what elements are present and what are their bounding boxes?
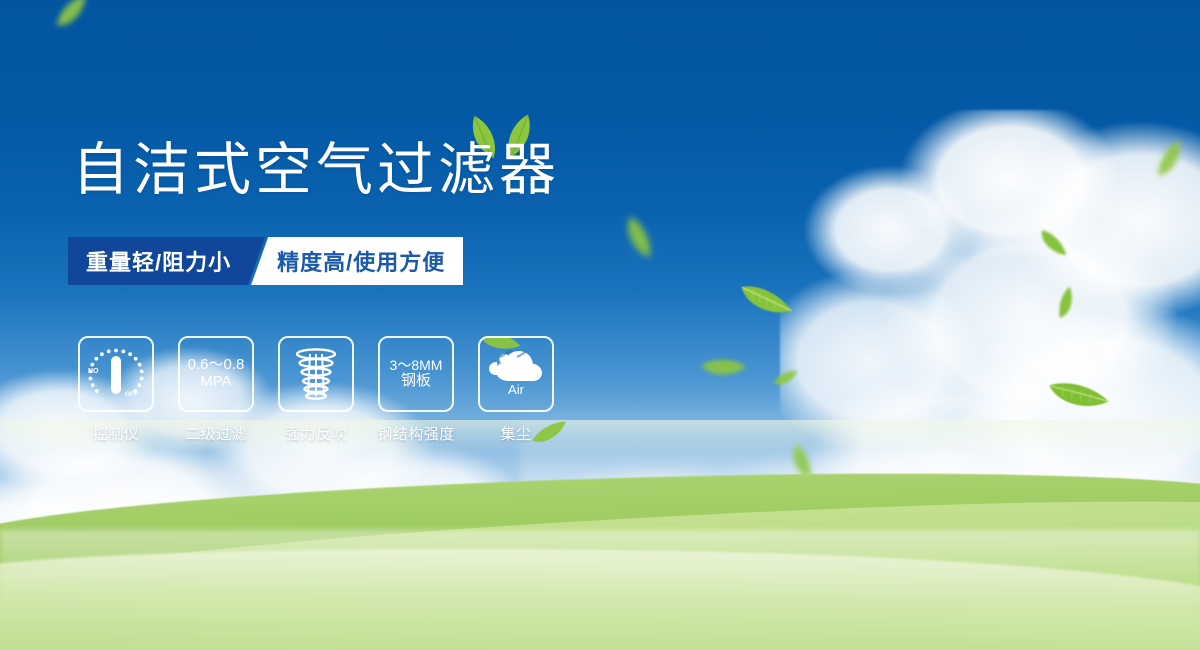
feature-item-steel[interactable]: 3～8MM 钢板 钢结构强度 [378, 336, 454, 444]
leaf-icon [529, 419, 573, 448]
feature-item-dust[interactable]: Air 集尘 [478, 336, 554, 444]
feature-label: 集尘 [500, 423, 531, 444]
svg-text:NO: NO [88, 368, 99, 375]
subtitle-segment-left: 重量轻/阻力小 [68, 237, 265, 285]
feature-label: 二级过滤 [185, 423, 247, 444]
page-title: 自洁式空气过滤器 [72, 142, 560, 199]
feature-label: 强力反吹 [285, 423, 347, 444]
feature-icon-box [278, 336, 354, 412]
feature-icon-box: 3～8MM 钢板 [378, 336, 454, 412]
gauge-icon: NO OFF [86, 345, 146, 403]
feature-label: 钢结构强度 [377, 423, 455, 444]
feature-icon-box: 0.6～0.8 MPA [178, 336, 254, 412]
subtitle-segment-right: 精度高/使用方便 [251, 237, 463, 285]
feature-icon-box: Air [478, 336, 554, 412]
feature-icon-box: NO OFF [78, 336, 154, 412]
svg-text:OFF: OFF [125, 391, 138, 398]
feature-list: NO OFF 控制仪 0.6～0.8 MPA 二级过滤 [78, 336, 554, 444]
air-cloud-icon [487, 348, 545, 382]
feature-item-pressure[interactable]: 0.6～0.8 MPA 二级过滤 [178, 336, 254, 444]
feature-value-line2: 钢板 [401, 373, 431, 390]
filter-stack-icon [291, 347, 341, 401]
feature-value-line2: Air [508, 383, 524, 398]
feature-item-blowback[interactable]: 强力反吹 [278, 336, 354, 444]
feature-label: 控制仪 [93, 423, 140, 444]
feature-item-controller[interactable]: NO OFF 控制仪 [78, 336, 154, 444]
feature-value-line1: 0.6～0.8 [188, 357, 245, 374]
promo-banner: 自洁式空气过滤器 重量轻/阻力小 精度高/使用方便 [0, 0, 1200, 650]
subtitle-bar: 重量轻/阻力小 精度高/使用方便 [68, 237, 463, 285]
feature-value-line2: MPA [200, 374, 231, 391]
